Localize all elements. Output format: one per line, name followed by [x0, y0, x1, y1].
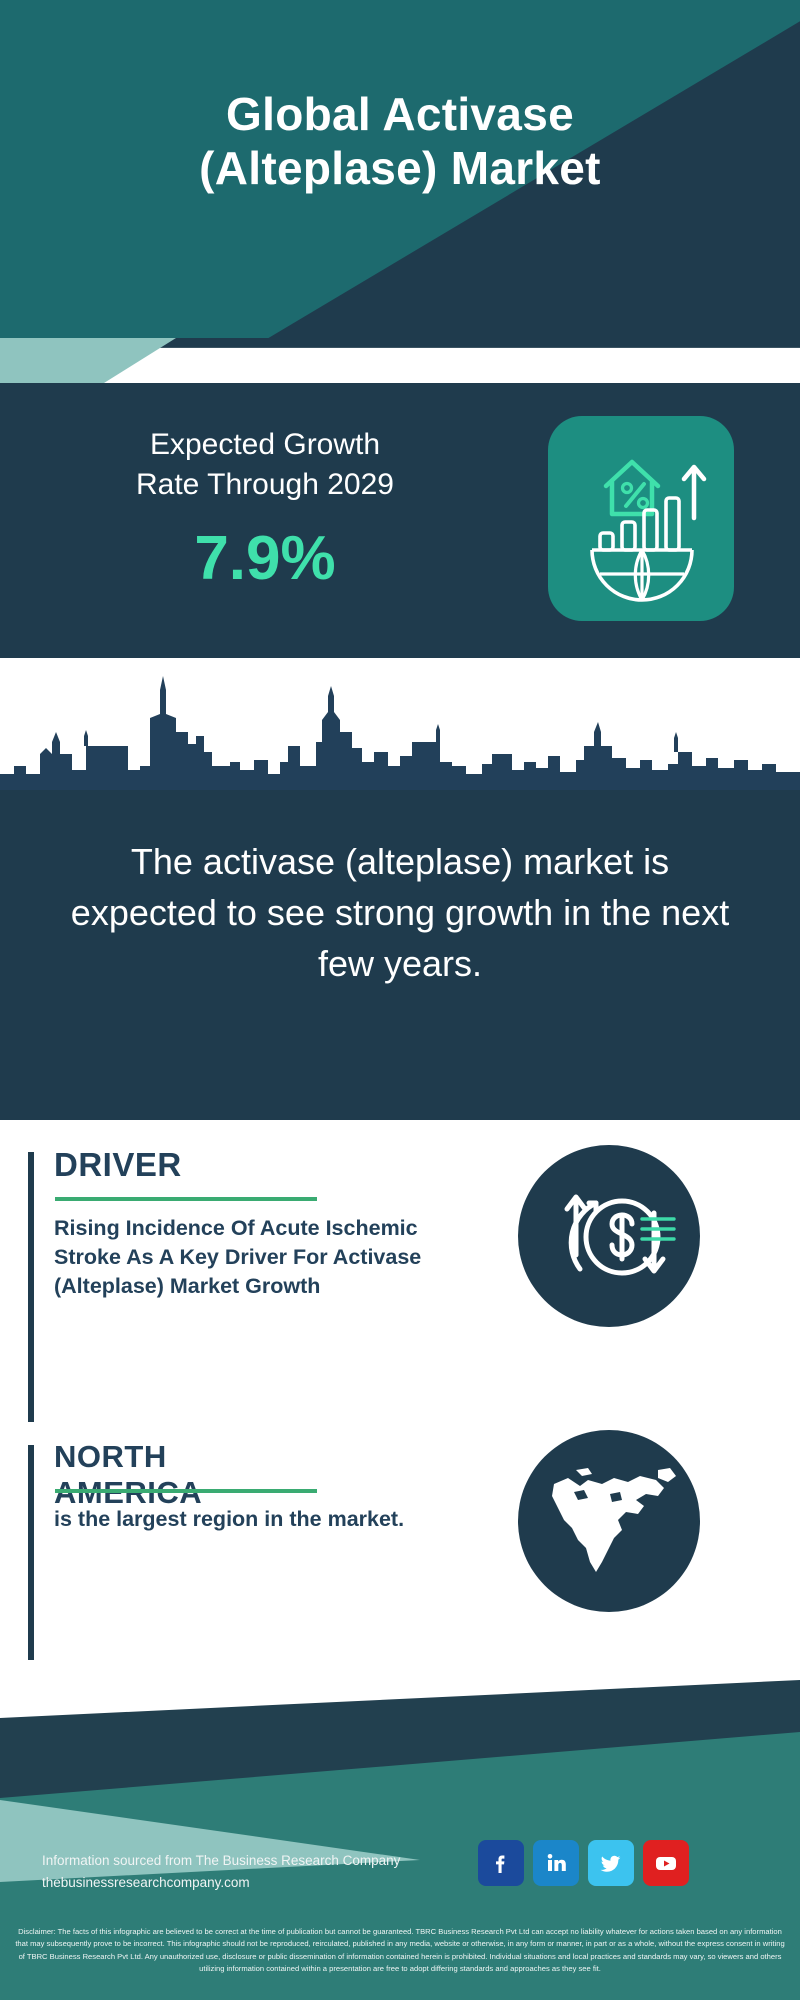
disclaimer-section: Disclaimer: The facts of this infographi… [0, 1920, 800, 2000]
growth-rate-section: Expected Growth Rate Through 2029 7.9% [0, 383, 800, 658]
header-divider-band [0, 338, 800, 383]
growth-rate-label-line2: Rate Through 2029 [40, 465, 490, 505]
linkedin-icon[interactable] [533, 1840, 579, 1886]
header-banner: Global Activase (Alteplase) Market [0, 0, 800, 355]
growth-rate-value: 7.9% [40, 528, 490, 590]
growth-globe-icon [548, 416, 734, 621]
region-title: NORTH AMERICA [54, 1439, 202, 1511]
page-title-line2: (Alteplase) Market [0, 142, 800, 196]
market-statement-section: The activase (alteplase) market is expec… [0, 790, 800, 1120]
page-title: Global Activase (Alteplase) Market [0, 88, 800, 196]
city-skyline-illustration [0, 658, 800, 790]
infographic-page: Global Activase (Alteplase) Market Expec… [0, 0, 800, 2000]
page-title-line1: Global Activase [0, 88, 800, 142]
growth-rate-label: Expected Growth Rate Through 2029 [40, 425, 490, 504]
driver-body-text: Rising Incidence Of Acute Ischemic Strok… [54, 1214, 454, 1302]
social-links [478, 1840, 689, 1886]
disclaimer-text: Disclaimer: The facts of this infographi… [0, 1920, 800, 1975]
region-accent-bar [28, 1445, 34, 1660]
footer-website[interactable]: thebusinessresearchcompany.com [42, 1872, 400, 1894]
driver-title: DRIVER [54, 1146, 182, 1184]
growth-rate-label-line1: Expected Growth [40, 425, 490, 465]
twitter-icon[interactable] [588, 1840, 634, 1886]
dollar-cycle-icon [518, 1145, 700, 1327]
footer-attribution: Information sourced from The Business Re… [42, 1850, 400, 1893]
region-underline [55, 1489, 317, 1493]
market-statement-text: The activase (alteplase) market is expec… [55, 836, 745, 989]
driver-underline [55, 1197, 317, 1201]
region-body-text: is the largest region in the market. [54, 1505, 444, 1534]
youtube-icon[interactable] [643, 1840, 689, 1886]
north-america-map-icon [518, 1430, 700, 1612]
facebook-icon[interactable] [478, 1840, 524, 1886]
footer-source-line: Information sourced from The Business Re… [42, 1850, 400, 1872]
driver-accent-bar [28, 1152, 34, 1422]
